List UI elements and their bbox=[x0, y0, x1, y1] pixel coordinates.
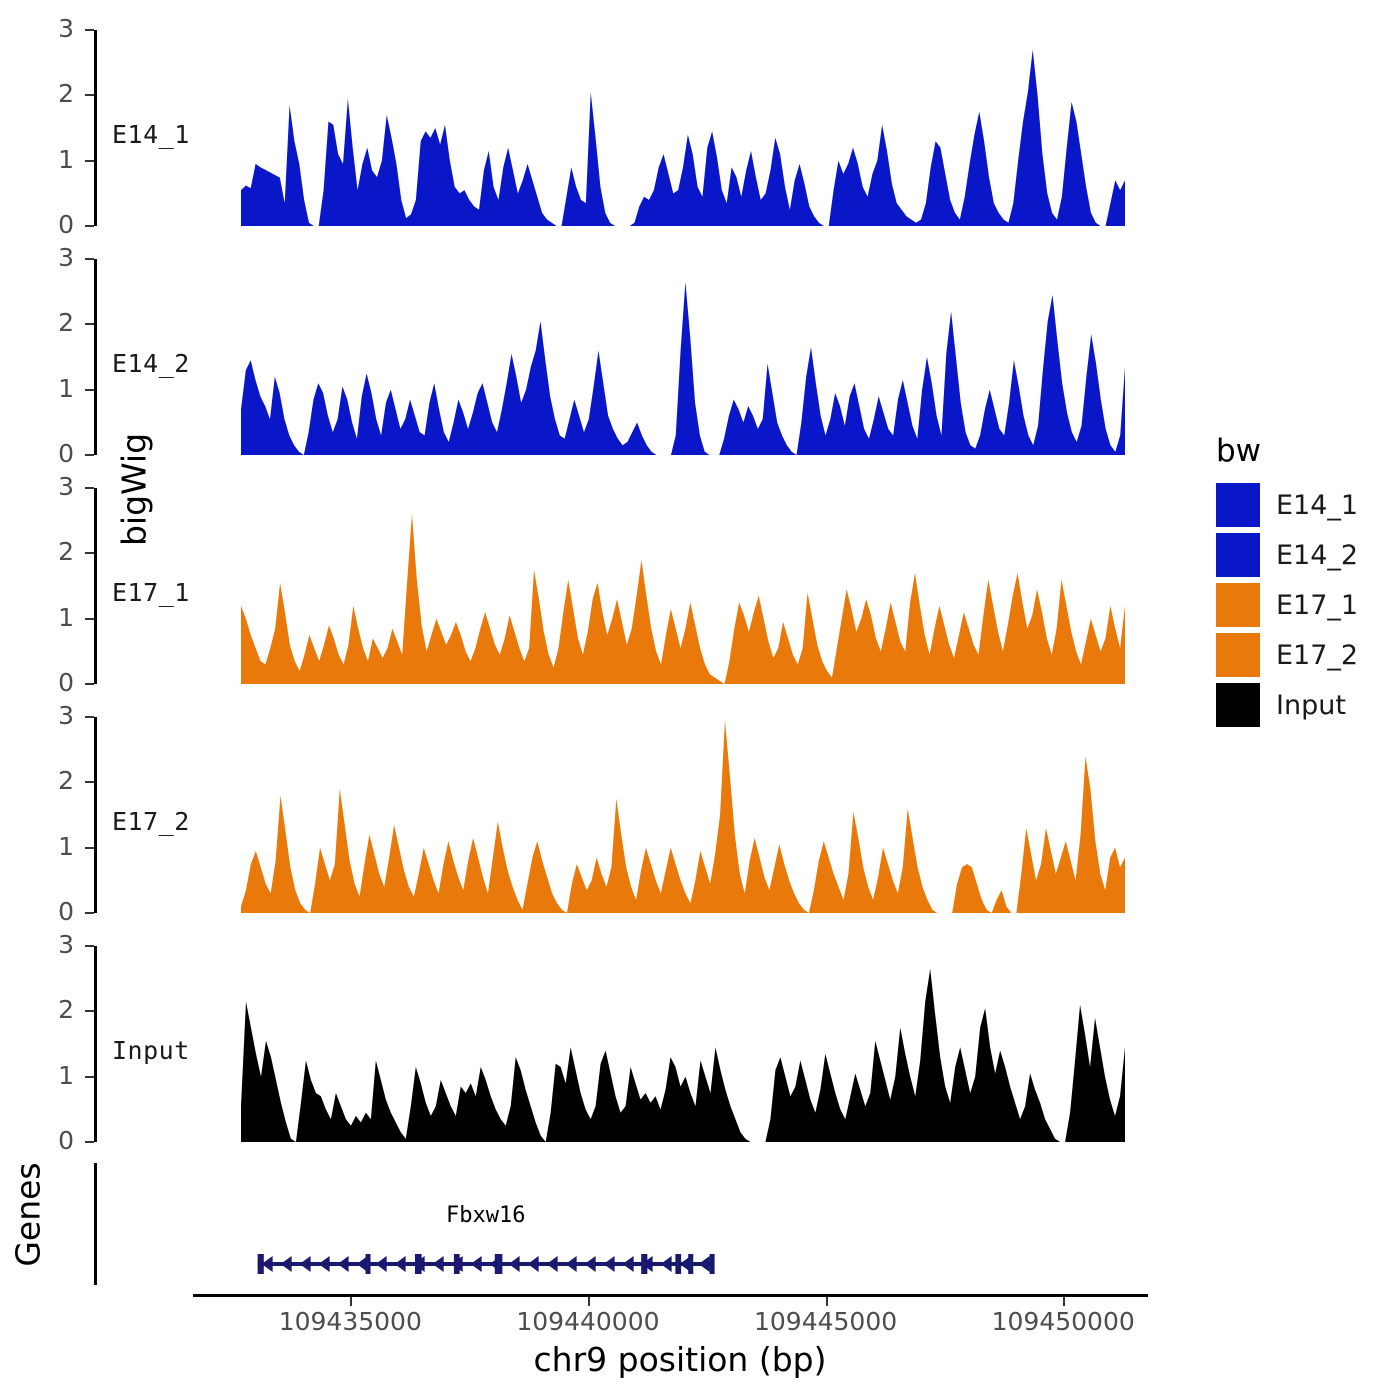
legend-key-E17_1[interactable] bbox=[1216, 583, 1260, 627]
track-area-E14_1 bbox=[241, 30, 1125, 226]
y-tick-mark bbox=[85, 389, 94, 391]
legend-label-E17_2: E17_2 bbox=[1276, 640, 1358, 671]
y-axis-line-E14_2 bbox=[94, 259, 97, 455]
gene-label-Fbxw16: Fbxw16 bbox=[366, 1203, 606, 1228]
legend-label-E14_2: E14_2 bbox=[1276, 540, 1358, 571]
y-tick-label: 1 bbox=[34, 145, 74, 174]
y-tick-mark bbox=[85, 781, 94, 783]
y-tick-label: 2 bbox=[34, 995, 74, 1024]
x-tick-mark bbox=[588, 1297, 590, 1306]
y-tick-mark bbox=[85, 1010, 94, 1012]
y-tick-mark bbox=[85, 847, 94, 849]
legend-label-Input: Input bbox=[1276, 690, 1346, 721]
genes-axis-line bbox=[94, 1163, 97, 1285]
y-tick-label: 0 bbox=[34, 439, 74, 468]
y-tick-label: 1 bbox=[34, 1061, 74, 1090]
y-axis-line-Input bbox=[94, 946, 97, 1142]
y-tick-mark bbox=[85, 487, 94, 489]
y-tick-label: 2 bbox=[34, 79, 74, 108]
y-tick-label: 3 bbox=[34, 243, 74, 272]
y-tick-label: 2 bbox=[34, 308, 74, 337]
y-tick-mark bbox=[85, 912, 94, 914]
y-tick-mark bbox=[85, 160, 94, 162]
legend-label-E17_1: E17_1 bbox=[1276, 590, 1358, 621]
x-axis-line bbox=[193, 1294, 1148, 1297]
y-tick-mark bbox=[85, 29, 94, 31]
y-tick-label: 1 bbox=[34, 603, 74, 632]
x-axis-title: chr9 position (bp) bbox=[470, 1340, 890, 1379]
y-axis-line-E14_1 bbox=[94, 30, 97, 226]
x-tick-mark bbox=[350, 1297, 352, 1306]
track-area-E14_2 bbox=[241, 259, 1125, 455]
legend-label-E14_1: E14_1 bbox=[1276, 490, 1358, 521]
y-tick-label: 0 bbox=[34, 668, 74, 697]
track-label-E17_1: E17_1 bbox=[112, 578, 190, 607]
x-tick-label: 109435000 bbox=[250, 1307, 450, 1336]
y-tick-mark bbox=[85, 552, 94, 554]
y-tick-label: 2 bbox=[34, 537, 74, 566]
gene-model-Fbxw16 bbox=[231, 1244, 1135, 1284]
y-tick-mark bbox=[85, 323, 94, 325]
y-tick-mark bbox=[85, 683, 94, 685]
y-tick-label: 2 bbox=[34, 766, 74, 795]
y-tick-label: 1 bbox=[34, 374, 74, 403]
x-tick-label: 109445000 bbox=[726, 1307, 926, 1336]
y-tick-mark bbox=[85, 94, 94, 96]
y-tick-mark bbox=[85, 945, 94, 947]
y-axis-line-E17_1 bbox=[94, 488, 97, 684]
track-label-E17_2: E17_2 bbox=[112, 807, 190, 836]
legend-key-E14_2[interactable] bbox=[1216, 533, 1260, 577]
y-tick-mark bbox=[85, 716, 94, 718]
track-area-E17_1 bbox=[241, 488, 1125, 684]
y-tick-mark bbox=[85, 225, 94, 227]
y-tick-label: 0 bbox=[34, 1126, 74, 1155]
track-label-E14_1: E14_1 bbox=[112, 120, 190, 149]
x-tick-mark bbox=[1063, 1297, 1065, 1306]
legend-key-E14_1[interactable] bbox=[1216, 483, 1260, 527]
genes-axis-title: Genes bbox=[9, 1135, 48, 1295]
y-axis-line-E17_2 bbox=[94, 717, 97, 913]
y-tick-mark bbox=[85, 1076, 94, 1078]
track-area-E17_2 bbox=[241, 717, 1125, 913]
x-tick-label: 109440000 bbox=[488, 1307, 688, 1336]
y-tick-mark bbox=[85, 618, 94, 620]
x-tick-mark bbox=[826, 1297, 828, 1306]
y-tick-mark bbox=[85, 258, 94, 260]
legend-title: bw bbox=[1216, 433, 1261, 469]
y-tick-label: 3 bbox=[34, 930, 74, 959]
y-tick-label: 3 bbox=[34, 14, 74, 43]
y-tick-label: 3 bbox=[34, 472, 74, 501]
legend-key-Input[interactable] bbox=[1216, 683, 1260, 727]
y-tick-label: 3 bbox=[34, 701, 74, 730]
y-tick-mark bbox=[85, 454, 94, 456]
bigwig-genome-browser-plot: bigWig Genes 0123E14_10123E14_20123E17_1… bbox=[0, 0, 1400, 1400]
track-area-Input bbox=[241, 946, 1125, 1142]
legend-key-E17_2[interactable] bbox=[1216, 633, 1260, 677]
y-tick-label: 1 bbox=[34, 832, 74, 861]
y-tick-label: 0 bbox=[34, 210, 74, 239]
y-tick-mark bbox=[85, 1141, 94, 1143]
track-label-Input: Input bbox=[112, 1036, 190, 1065]
track-label-E14_2: E14_2 bbox=[112, 349, 190, 378]
x-tick-label: 109450000 bbox=[963, 1307, 1163, 1336]
y-tick-label: 0 bbox=[34, 897, 74, 926]
